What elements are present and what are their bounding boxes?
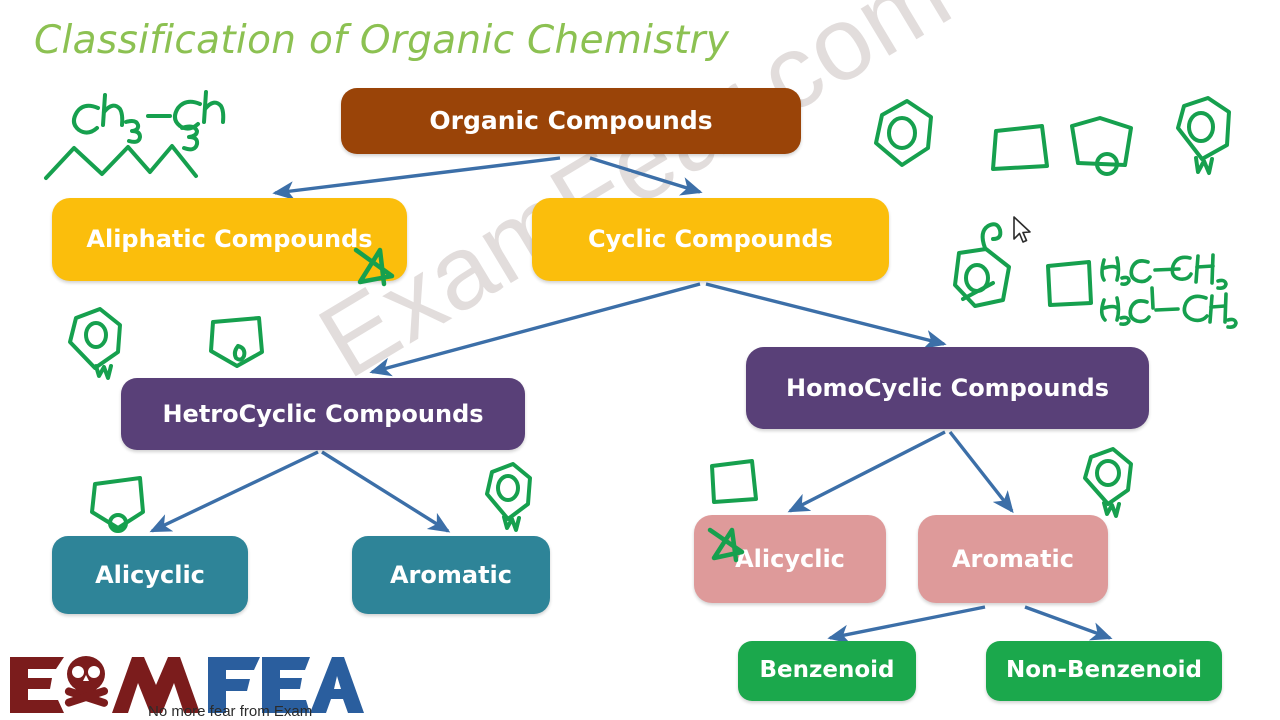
mouse-pointer-icon: [1012, 216, 1034, 246]
logo-skull-icon: [64, 656, 109, 708]
hetero-ring-right-ink: [211, 318, 262, 366]
zigzag-chain-ink: [46, 146, 196, 178]
node-aliphatic-compounds[interactable]: Aliphatic Compounds: [52, 198, 407, 281]
logo-letter-e: [10, 657, 64, 713]
edge-cyclic-to-hetrocyclic: [372, 284, 700, 372]
edge-organic-to-aliphatic: [275, 158, 560, 193]
alicyclic-ring-ink: [92, 478, 143, 531]
edge-organic-to-cyclic: [590, 158, 700, 192]
node-hetrocyclic-compounds[interactable]: HetroCyclic Compounds: [121, 378, 525, 450]
node-hetero-aromatic[interactable]: Aromatic: [352, 536, 550, 614]
node-organic-compounds[interactable]: Organic Compounds: [341, 88, 801, 154]
node-benzenoid[interactable]: Benzenoid: [738, 641, 916, 701]
benzene-ring-1-ink: [876, 101, 931, 165]
edge-aromatic-to-nonbenzenoid: [1025, 607, 1110, 638]
cyclobutane-formula-ink: [1102, 255, 1236, 327]
edge-aromatic-to-benzenoid: [830, 607, 985, 638]
hetero-ring-left-ink: [70, 309, 120, 378]
edge-cyclic-to-homocyclic: [706, 284, 944, 344]
slide-canvas: ExamFear.com Classification of Organic C…: [0, 0, 1280, 720]
aromatic-ring-ink: [487, 464, 530, 530]
pyridine-ring-ink: [1178, 98, 1229, 173]
edge-homo-to-aromatic: [950, 432, 1012, 511]
node-hetero-alicyclic[interactable]: Alicyclic: [52, 536, 248, 614]
pentagon-ring-1-ink: [1072, 118, 1131, 174]
ethane-formula-ink: [74, 92, 223, 149]
node-homo-alicyclic[interactable]: Alicyclic: [694, 515, 886, 603]
node-homocyclic-compounds[interactable]: HomoCyclic Compounds: [746, 347, 1149, 429]
edge-hetro-to-aromatic: [322, 452, 448, 531]
homo-square-ink: [712, 461, 756, 502]
cyclobutane-square-2-ink: [1048, 262, 1091, 305]
page-title: Classification of Organic Chemistry: [34, 18, 729, 63]
node-non-benzenoid[interactable]: Non-Benzenoid: [986, 641, 1222, 701]
phenol-ring-ink: [955, 224, 1009, 306]
node-cyclic-compounds[interactable]: Cyclic Compounds: [532, 198, 889, 281]
homo-aromatic-ring-ink: [1085, 449, 1131, 516]
edge-homo-to-alicyclic: [790, 432, 945, 511]
edge-hetro-to-alicyclic: [152, 452, 318, 531]
node-homo-aromatic[interactable]: Aromatic: [918, 515, 1108, 603]
cyclobutane-square-1-ink: [993, 126, 1047, 169]
logo-tagline: No more fear from Exam: [148, 703, 312, 720]
